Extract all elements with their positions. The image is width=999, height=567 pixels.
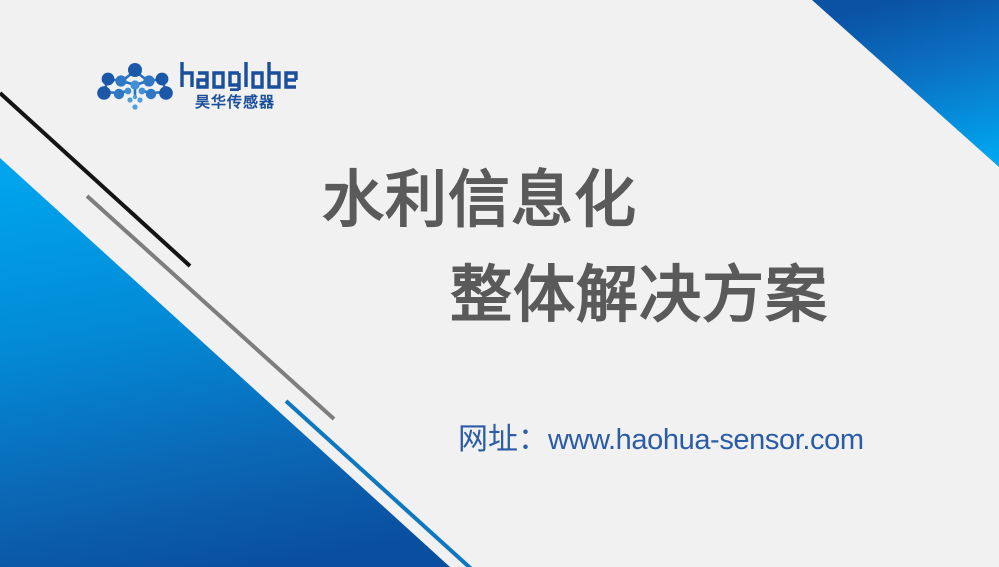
slide-title-line-1: 水利信息化 <box>322 163 637 237</box>
slide-title-line-2: 整体解决方案 <box>450 258 828 332</box>
website-line: 网址：www.haohua-sensor.com <box>458 420 864 460</box>
title-slide: 昊华传感器 水利信息化 整体解决方案 网址：www.haohua-sensor.… <box>0 0 999 567</box>
company-logo[interactable]: 昊华传感器 <box>96 57 326 119</box>
website-url[interactable]: www.haohua-sensor.com <box>548 424 864 456</box>
website-label: 网址： <box>458 422 548 457</box>
haoglobe-wordmark <box>178 59 318 91</box>
logo-subtitle: 昊华传感器 <box>195 92 315 112</box>
haoglobe-network-nodes-mark <box>96 59 174 113</box>
